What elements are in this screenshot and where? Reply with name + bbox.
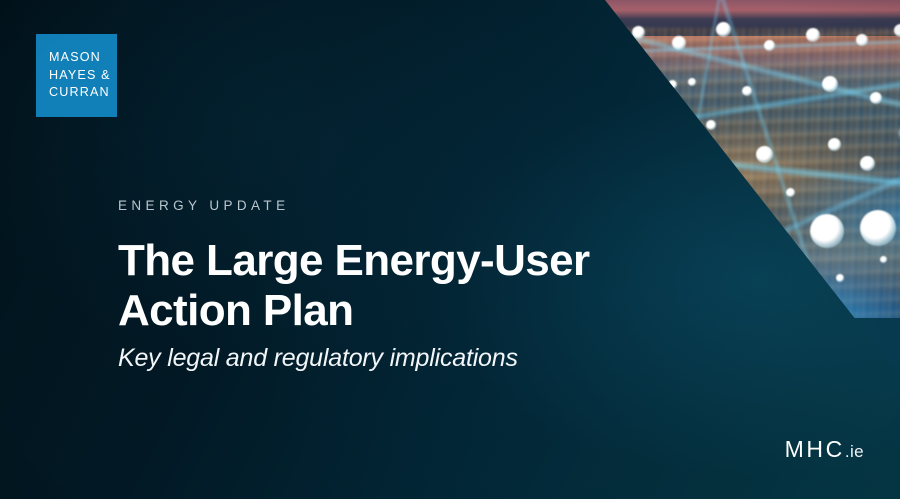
logo-line-2: HAYES & <box>49 68 111 82</box>
mhc-wordmark-tld: .ie <box>845 442 864 461</box>
page-subtitle: Key legal and regulatory implications <box>118 344 518 373</box>
bokeh-dot-large <box>810 214 844 248</box>
bokeh-dot <box>688 78 696 86</box>
bokeh-dot <box>672 36 686 50</box>
bokeh-dot <box>742 86 752 96</box>
mhc-wordmark[interactable]: MHC.ie <box>785 436 864 463</box>
page-title: The Large Energy-User Action Plan <box>118 236 678 336</box>
bokeh-dot <box>870 92 882 104</box>
bokeh-dot <box>836 274 844 282</box>
bokeh-dot <box>786 188 795 197</box>
bokeh-dot <box>706 120 716 130</box>
bokeh-dot <box>860 156 875 171</box>
logo-wordmark: MASONHAYES &CURRAN <box>49 49 111 102</box>
logo-line-3: CURRAN <box>49 85 110 99</box>
mhc-wordmark-text: MHC <box>785 436 845 462</box>
bokeh-dot <box>856 34 868 46</box>
bokeh-dot <box>828 138 841 151</box>
mason-hayes-curran-logo[interactable]: MASONHAYES &CURRAN <box>36 34 117 117</box>
bokeh-dot <box>716 22 731 37</box>
bokeh-dot <box>764 40 775 51</box>
title-slide: MASONHAYES &CURRAN ENERGY UPDATE The Lar… <box>0 0 900 499</box>
bokeh-dot <box>822 76 838 92</box>
bokeh-dot <box>756 146 773 163</box>
bokeh-dot <box>880 256 887 263</box>
bokeh-dot-large <box>860 210 896 246</box>
logo-line-1: MASON <box>49 50 101 64</box>
bokeh-dot <box>806 28 820 42</box>
eyebrow-label: ENERGY UPDATE <box>118 198 289 213</box>
bokeh-dot <box>894 24 900 37</box>
